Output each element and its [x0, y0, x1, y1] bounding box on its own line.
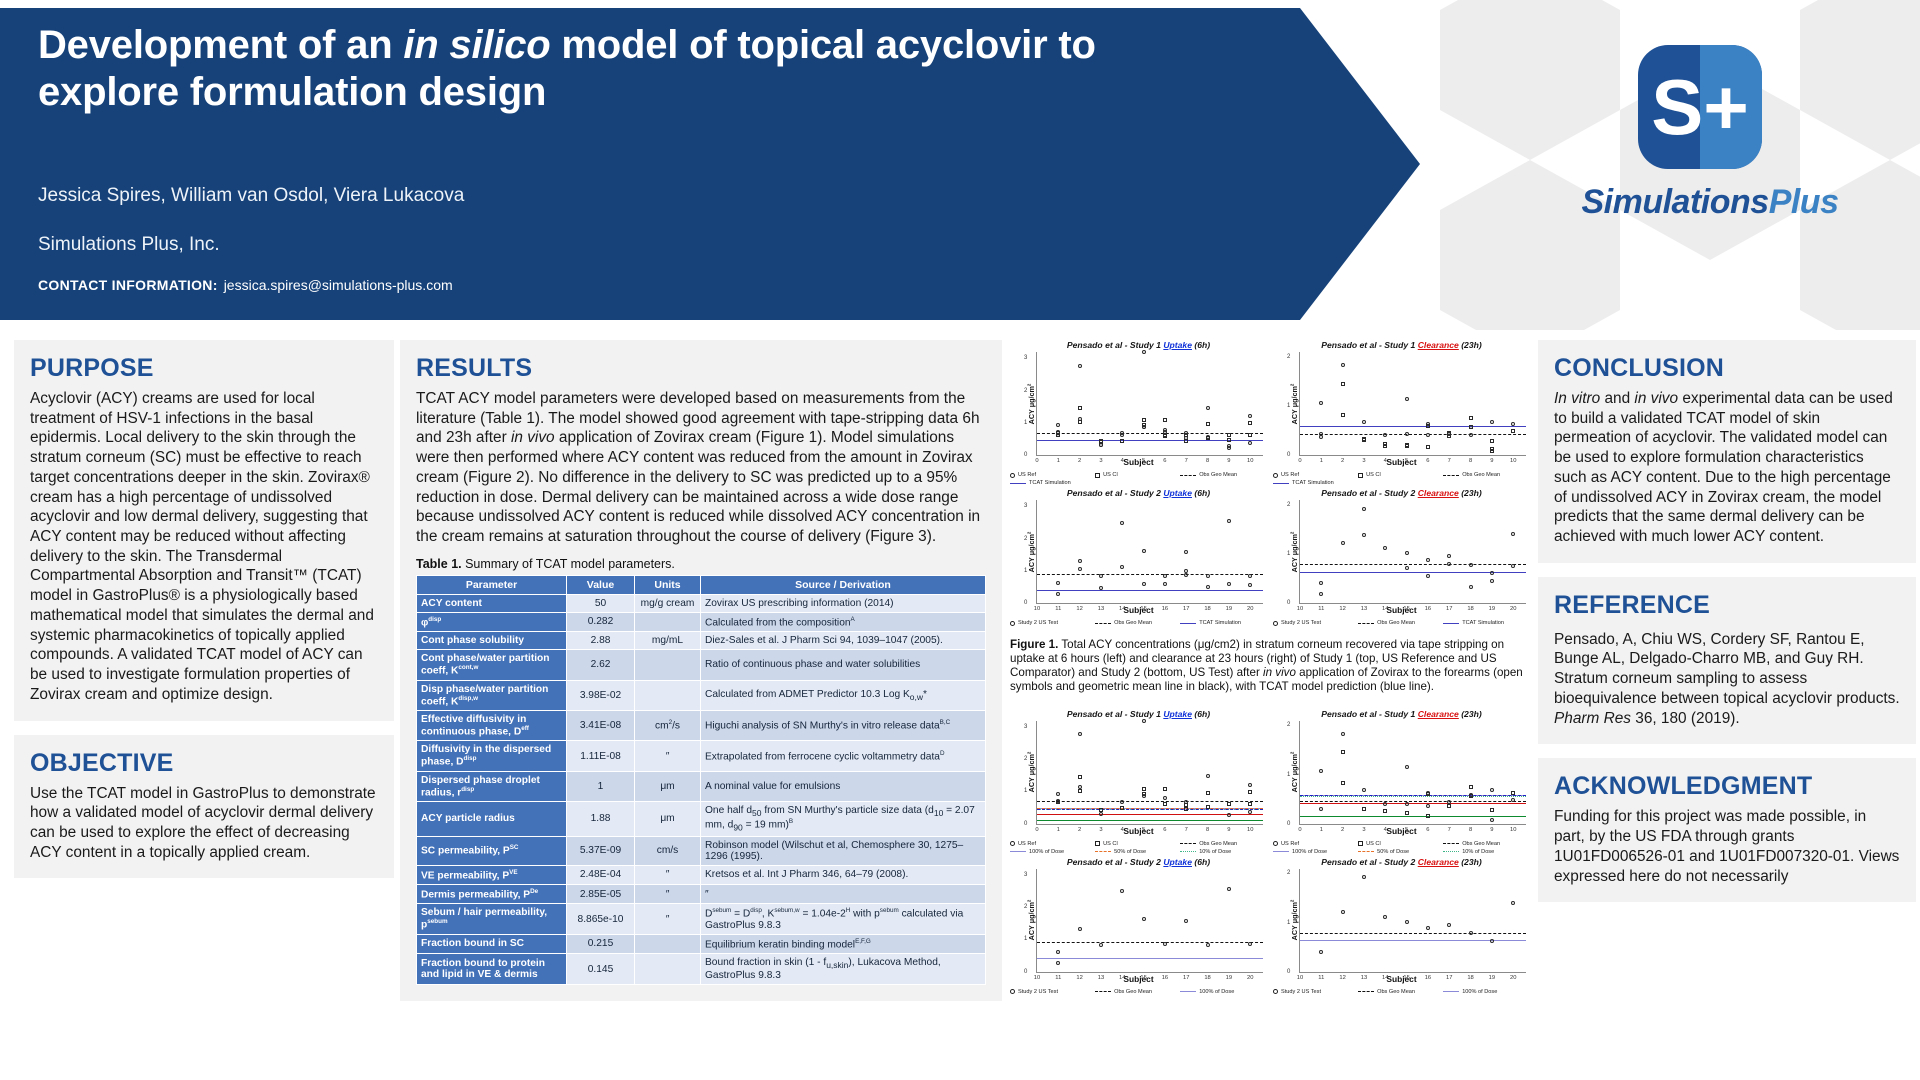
chart-title-keyword: Clearance [1418, 709, 1459, 719]
table-cell-value: 2.62 [567, 650, 635, 680]
data-point [1490, 449, 1494, 453]
table-cell-source: Kretsos et al. Int J Pharm 346, 64–79 (2… [701, 865, 986, 884]
data-point [1056, 581, 1060, 585]
table-cell-value: 5.37E-09 [567, 836, 635, 865]
legend-label: US Cl [1366, 841, 1381, 847]
data-point [1341, 750, 1345, 754]
legend-label: Obs Geo Mean [1114, 620, 1152, 626]
x-axis-tick: 8 [1206, 827, 1209, 833]
x-axis-tick: 19 [1226, 975, 1232, 981]
y-axis-tick: 1 [1024, 788, 1027, 794]
chart-legend: US RefUS ClObs Geo MeanTCAT Simulation [1273, 472, 1530, 486]
x-axis-tick: 9 [1490, 827, 1493, 833]
y-axis-tick: 1 [1287, 772, 1290, 778]
legend-line-icon [1010, 483, 1026, 484]
data-point [1426, 574, 1430, 578]
chart-title: Pensado et al - Study 1 Clearance (23h) [1273, 709, 1530, 719]
table-cell-units: mg/mL [635, 632, 701, 650]
table-cell-source: A nominal value for emulsions [701, 771, 986, 801]
x-axis-tick: 12 [1076, 606, 1082, 612]
data-point [1099, 812, 1103, 816]
x-axis-tick: 20 [1247, 975, 1253, 981]
legend-item: US Ref [1010, 472, 1087, 478]
data-point [1490, 579, 1494, 583]
table-cell-value: 1.88 [567, 802, 635, 836]
reference-heading: REFERENCE [1554, 591, 1900, 620]
legend-marker-icon [1358, 473, 1363, 478]
data-point [1248, 810, 1252, 814]
chart-fig2-study2-clearance: Pensado et al - Study 2 Clearance (23h)A… [1273, 857, 1530, 999]
data-point [1426, 926, 1430, 930]
x-axis-tick: 1 [1320, 827, 1323, 833]
column-results: RESULTS TCAT ACY model parameters were d… [400, 340, 1002, 1015]
table-cell-parameter: Disp phase/water partition coeff, Kdisp,… [417, 680, 567, 710]
table-column-header: Value [567, 575, 635, 594]
legend-label: 50% of Dose [1114, 849, 1146, 855]
x-axis-tick: 7 [1185, 827, 1188, 833]
y-axis-tick: 0 [1287, 821, 1290, 827]
data-point [1490, 818, 1494, 822]
chart-title-keyword: Uptake [1163, 709, 1192, 719]
data-point [1184, 439, 1188, 443]
table-cell-value: 8.865e-10 [567, 904, 635, 934]
legend-marker-icon [1273, 473, 1278, 478]
x-axis-tick: 16 [1162, 606, 1168, 612]
table-cell-source: ″ [701, 884, 986, 903]
chart-title-keyword: Clearance [1418, 857, 1459, 867]
x-axis-tick: 5 [1405, 458, 1408, 464]
x-axis-tick: 18 [1204, 975, 1210, 981]
chart-legend: US RefUS ClObs Geo MeanTCAT Simulation [1010, 472, 1267, 486]
y-axis-tick: 1 [1287, 403, 1290, 409]
legend-label: 100% of Dose [1462, 989, 1497, 995]
table-cell-parameter: ACY particle radius [417, 802, 567, 836]
legend-marker-icon [1358, 841, 1363, 846]
legend-item: US Cl [1095, 841, 1172, 847]
tcat-parameters-table: ParameterValueUnitsSource / Derivation A… [416, 575, 986, 985]
legend-line-icon [1273, 483, 1289, 484]
table-caption-label: Table 1. [416, 557, 462, 571]
table-cell-parameter: Fraction bound in SC [417, 934, 567, 953]
legend-label: Obs Geo Mean [1377, 989, 1415, 995]
data-point [1319, 581, 1323, 585]
table-cell-source: Ratio of continuous phase and water solu… [701, 650, 986, 680]
x-axis-tick: 18 [1467, 975, 1473, 981]
data-point [1248, 942, 1252, 946]
chart-fig2-study1-clearance: Pensado et al - Study 1 Clearance (23h)A… [1273, 709, 1530, 851]
table-row: Disp phase/water partition coeff, Kdisp,… [417, 680, 986, 710]
data-point [1490, 788, 1494, 792]
x-axis-tick: 15 [1403, 975, 1409, 981]
legend-item: 100% of Dose [1443, 989, 1520, 995]
logo-wordmark: SimulationsPlus [1560, 183, 1860, 222]
conclusion-body: In vitro and in vivo experimental data c… [1554, 389, 1900, 547]
data-point [1341, 541, 1345, 545]
data-point [1383, 546, 1387, 550]
legend-line-icon [1180, 475, 1196, 476]
column-left: PURPOSE Acyclovir (ACY) creams are used … [14, 340, 394, 892]
table-row: SC permeability, PSC5.37E-09cm/sRobinson… [417, 836, 986, 865]
x-axis-tick: 5 [1405, 827, 1408, 833]
data-point [1142, 719, 1146, 723]
table-row: φdisp0.282Calculated from the compositio… [417, 612, 986, 631]
legend-label: TCAT Simulation [1199, 620, 1241, 626]
data-point [1163, 574, 1167, 578]
legend-label: Obs Geo Mean [1377, 620, 1415, 626]
data-point [1490, 439, 1494, 443]
y-axis-tick: 0 [1024, 452, 1027, 458]
logo-word-simulations: Simulations [1581, 183, 1768, 221]
figure-1-caption: Figure 1. Total ACY concentrations (μg/c… [1010, 638, 1530, 695]
data-point [1511, 901, 1515, 905]
x-axis-tick: 9 [1227, 458, 1230, 464]
table-cell-source: Robinson model (Wilschut et al, Chemosph… [701, 836, 986, 865]
x-axis-tick: 15 [1403, 606, 1409, 612]
results-body: TCAT ACY model parameters were developed… [416, 389, 986, 547]
x-axis-tick: 4 [1121, 458, 1124, 464]
data-point [1319, 807, 1323, 811]
data-point [1447, 923, 1451, 927]
legend-label: Study 2 US Test [1018, 620, 1058, 626]
x-axis-tick: 12 [1339, 975, 1345, 981]
data-point [1469, 433, 1473, 437]
reference-body: Pensado, A, Chiu WS, Cordery SF, Rantou … [1554, 630, 1900, 729]
data-point [1206, 774, 1210, 778]
data-point [1120, 433, 1124, 437]
legend-marker-icon [1273, 621, 1278, 626]
data-point [1319, 769, 1323, 773]
y-axis-tick: 2 [1024, 388, 1027, 394]
page-title: Development of an in silico model of top… [38, 22, 1178, 116]
x-axis-tick: 0 [1035, 827, 1038, 833]
table-cell-source: Diez-Sales et al. J Pharm Sci 94, 1039–1… [701, 632, 986, 650]
legend-line-icon [1358, 991, 1374, 992]
reference-line [1300, 434, 1526, 435]
figure-2-block: Pensado et al - Study 1 Uptake (6h)ACY μ… [1010, 709, 1530, 999]
figure-1-block: Pensado et al - Study 1 Uptake (6h)ACY μ… [1010, 340, 1530, 695]
data-point [1078, 775, 1082, 779]
table-cell-value: 0.215 [567, 934, 635, 953]
data-point [1447, 800, 1451, 804]
data-point [1099, 808, 1103, 812]
legend-item: Obs Geo Mean [1443, 841, 1520, 847]
x-axis-tick: 4 [1384, 458, 1387, 464]
table-cell-parameter: SC permeability, PSC [417, 836, 567, 865]
y-axis-tick: 0 [1287, 969, 1290, 975]
y-axis-tick: 2 [1024, 904, 1027, 910]
table-cell-units: μm [635, 802, 701, 836]
data-point [1362, 875, 1366, 879]
chart-plot-area: ACY μg/cm2012012345678910 [1299, 352, 1526, 456]
legend-marker-icon [1273, 989, 1278, 994]
x-axis-tick: 7 [1448, 458, 1451, 464]
chart-title-suffix: (6h) [1192, 857, 1210, 867]
data-point [1078, 406, 1082, 410]
data-point [1056, 800, 1060, 804]
chart-title-prefix: Pensado et al - Study 1 [1067, 340, 1163, 350]
figure-1-chart-grid: Pensado et al - Study 1 Uptake (6h)ACY μ… [1010, 340, 1530, 630]
data-point [1206, 585, 1210, 589]
chart-legend: Study 2 US TestObs Geo Mean100% of Dose [1273, 989, 1530, 995]
data-point [1248, 414, 1252, 418]
x-axis-tick: 4 [1121, 827, 1124, 833]
chart-title-prefix: Pensado et al - Study 1 [1321, 340, 1417, 350]
legend-label: US Ref [1018, 841, 1036, 847]
x-axis-tick: 16 [1162, 975, 1168, 981]
x-axis-tick: 7 [1448, 827, 1451, 833]
table-row: VE permeability, PVE2.48E-04″Kretsos et … [417, 865, 986, 884]
data-point [1227, 813, 1231, 817]
legend-label: Obs Geo Mean [1114, 989, 1152, 995]
legend-line-icon [1180, 851, 1196, 852]
chart-title-keyword: Uptake [1163, 488, 1192, 498]
y-axis-tick: 0 [1287, 600, 1290, 606]
x-axis-tick: 17 [1446, 606, 1452, 612]
data-point [1227, 802, 1231, 806]
data-point [1362, 438, 1366, 442]
legend-line-icon [1095, 623, 1111, 624]
data-point [1184, 550, 1188, 554]
chart-title-suffix: (23h) [1459, 488, 1482, 498]
chart-fig1-study1-uptake: Pensado et al - Study 1 Uptake (6h)ACY μ… [1010, 340, 1267, 482]
data-point [1383, 915, 1387, 919]
x-axis-tick: 17 [1183, 606, 1189, 612]
x-axis-tick: 16 [1425, 975, 1431, 981]
figure-1-caption-label: Figure 1. [1010, 638, 1058, 651]
y-axis-tick: 2 [1287, 722, 1290, 728]
reference-line [1037, 942, 1263, 943]
table-cell-value: 3.98E-02 [567, 680, 635, 710]
affiliation: Simulations Plus, Inc. [38, 234, 1138, 256]
chart-plot-area: ACY μg/cm20121011121314151617181920 [1299, 869, 1526, 973]
conclusion-heading: CONCLUSION [1554, 354, 1900, 383]
data-point [1405, 551, 1409, 555]
legend-label: 10% of Dose [1199, 849, 1231, 855]
y-axis-tick: 2 [1287, 502, 1290, 508]
table-cell-units: cm/s [635, 836, 701, 865]
chart-title-keyword: Uptake [1163, 340, 1192, 350]
chart-title-prefix: Pensado et al - Study 2 [1321, 857, 1417, 867]
chart-legend: Study 2 US TestObs Geo MeanTCAT Simulati… [1273, 620, 1530, 626]
y-axis-tick: 3 [1024, 503, 1027, 509]
x-axis-tick: 10 [1510, 458, 1516, 464]
data-point [1362, 507, 1366, 511]
table-cell-source: Calculated from the compositionA [701, 612, 986, 631]
legend-line-icon [1443, 475, 1459, 476]
legend-line-icon [1443, 623, 1459, 624]
x-axis-tick: 15 [1140, 975, 1146, 981]
x-axis-tick: 12 [1339, 606, 1345, 612]
legend-item: Obs Geo Mean [1358, 989, 1435, 995]
y-axis-label: ACY μg/cm2 [1027, 900, 1036, 941]
table-cell-value: 3.41E-08 [567, 710, 635, 740]
x-axis-tick: 20 [1247, 606, 1253, 612]
reference-line [1300, 426, 1526, 427]
chart-title-prefix: Pensado et al - Study 2 [1067, 488, 1163, 498]
chart-title: Pensado et al - Study 2 Clearance (23h) [1273, 857, 1530, 867]
panel-acknowledgment: ACKNOWLEDGMENT Funding for this project … [1538, 758, 1916, 902]
chart-title-suffix: (6h) [1192, 340, 1210, 350]
table-cell-parameter: Cont phase/water partition coeff, Kcont,… [417, 650, 567, 680]
x-axis-tick: 17 [1183, 975, 1189, 981]
legend-item: 100% of Dose [1180, 989, 1257, 995]
data-point [1469, 785, 1473, 789]
panel-conclusion: CONCLUSION In vitro and in vivo experime… [1538, 340, 1916, 563]
data-point [1490, 939, 1494, 943]
x-axis-tick: 15 [1140, 606, 1146, 612]
data-point [1163, 787, 1167, 791]
x-axis-tick: 1 [1057, 458, 1060, 464]
data-point [1099, 943, 1103, 947]
data-point [1490, 571, 1494, 575]
table-cell-value: 0.282 [567, 612, 635, 631]
figure-2-chart-grid: Pensado et al - Study 1 Uptake (6h)ACY μ… [1010, 709, 1530, 999]
title-text-1: Development of an [38, 23, 403, 67]
x-axis-tick: 10 [1510, 827, 1516, 833]
x-axis-tick: 13 [1098, 975, 1104, 981]
table-cell-source: Extrapolated from ferrocene cyclic volta… [701, 741, 986, 771]
table-cell-parameter: ACY content [417, 594, 567, 612]
table-cell-units [635, 612, 701, 631]
figure-1-caption-text: Total ACY concentrations (μg/cm2) in str… [1010, 638, 1523, 693]
data-point [1120, 565, 1124, 569]
legend-item: Obs Geo Mean [1180, 841, 1257, 847]
table-cell-parameter: Fraction bound to protein and lipid in V… [417, 954, 567, 985]
table-cell-parameter: Dispersed phase droplet radius, rdisp [417, 771, 567, 801]
data-point [1248, 802, 1252, 806]
x-axis-tick: 8 [1206, 458, 1209, 464]
x-axis-tick: 9 [1490, 458, 1493, 464]
x-axis-tick: 3 [1362, 458, 1365, 464]
chart-title-prefix: Pensado et al - Study 1 [1067, 709, 1163, 719]
reference-line [1300, 795, 1526, 796]
chart-title-prefix: Pensado et al - Study 2 [1321, 488, 1417, 498]
y-axis-label: ACY μg/cm2 [1290, 531, 1299, 572]
legend-label: 10% of Dose [1462, 849, 1494, 855]
chart-plot-area: ACY μg/cm201231011121314151617181920 [1036, 500, 1263, 604]
data-point [1469, 585, 1473, 589]
data-point [1426, 445, 1430, 449]
table-cell-parameter: Diffusivity in the dispersed phase, Ddis… [417, 741, 567, 771]
legend-item: 100% of Dose [1010, 849, 1087, 855]
data-point [1405, 566, 1409, 570]
data-point [1248, 783, 1252, 787]
y-axis-label: ACY μg/cm2 [1290, 383, 1299, 424]
x-axis-tick: 20 [1510, 606, 1516, 612]
data-point [1319, 401, 1323, 405]
s-plus-icon: S+ [1638, 45, 1762, 169]
data-point [1078, 364, 1082, 368]
table-cell-units [635, 680, 701, 710]
contact-email[interactable]: jessica.spires@simulations-plus.com [218, 277, 453, 293]
data-point [1206, 406, 1210, 410]
chart-title: Pensado et al - Study 2 Clearance (23h) [1273, 488, 1530, 498]
chart-plot-area: ACY μg/cm2012012345678910 [1299, 721, 1526, 825]
data-point [1405, 432, 1409, 436]
legend-marker-icon [1095, 473, 1100, 478]
x-axis-tick: 12 [1076, 975, 1082, 981]
table-cell-value: 2.88 [567, 632, 635, 650]
data-point [1248, 433, 1252, 437]
x-axis-tick: 10 [1034, 606, 1040, 612]
chart-plot-area: ACY μg/cm201231011121314151617181920 [1036, 869, 1263, 973]
table-cell-units [635, 934, 701, 953]
legend-label: Obs Geo Mean [1199, 841, 1237, 847]
table-row: ACY particle radius1.88μmOne half d50 fr… [417, 802, 986, 836]
legend-label: US Cl [1103, 472, 1118, 478]
y-axis-tick: 2 [1287, 354, 1290, 360]
data-point [1184, 807, 1188, 811]
x-axis-tick: 0 [1035, 458, 1038, 464]
data-point [1405, 802, 1409, 806]
data-point [1163, 418, 1167, 422]
data-point [1383, 809, 1387, 813]
data-point [1469, 794, 1473, 798]
table-cell-units: ″ [635, 904, 701, 934]
data-point [1142, 350, 1146, 354]
y-axis-label: ACY μg/cm2 [1290, 900, 1299, 941]
legend-line-icon [1443, 851, 1459, 852]
x-axis-tick: 14 [1119, 975, 1125, 981]
legend-line-icon [1095, 991, 1111, 992]
data-point [1511, 422, 1515, 426]
table-cell-value: 2.48E-04 [567, 865, 635, 884]
data-point [1206, 422, 1210, 426]
y-axis-tick: 0 [1024, 821, 1027, 827]
table-column-header: Parameter [417, 575, 567, 594]
reference-line [1300, 803, 1526, 804]
x-axis-tick: 2 [1078, 458, 1081, 464]
legend-item: US Ref [1273, 841, 1350, 847]
legend-label: TCAT Simulation [1462, 620, 1504, 626]
data-point [1383, 444, 1387, 448]
table-cell-units: μm [635, 771, 701, 801]
x-axis-tick: 6 [1426, 827, 1429, 833]
legend-marker-icon [1010, 989, 1015, 994]
legend-item: Obs Geo Mean [1358, 620, 1435, 626]
y-axis-tick: 1 [1287, 920, 1290, 926]
x-axis-tick: 14 [1382, 606, 1388, 612]
data-point [1511, 798, 1515, 802]
y-axis-tick: 1 [1287, 551, 1290, 557]
x-axis-tick: 2 [1341, 458, 1344, 464]
data-point [1426, 804, 1430, 808]
chart-fig1-study2-clearance: Pensado et al - Study 2 Clearance (23h)A… [1273, 488, 1530, 630]
x-axis-tick: 13 [1098, 606, 1104, 612]
table-row: Effective diffusivity in continuous phas… [417, 710, 986, 740]
data-point [1426, 814, 1430, 818]
x-axis-tick: 11 [1055, 975, 1061, 981]
data-point [1426, 558, 1430, 562]
contact-information: CONTACT INFORMATION:jessica.spires@simul… [38, 277, 1138, 293]
data-point [1341, 363, 1345, 367]
column-right: CONCLUSION In vitro and in vivo experime… [1538, 340, 1916, 916]
x-axis-tick: 3 [1362, 827, 1365, 833]
data-point [1511, 532, 1515, 536]
data-point [1405, 397, 1409, 401]
chart-title-keyword: Clearance [1418, 340, 1459, 350]
x-axis-tick: 10 [1297, 975, 1303, 981]
contact-label: CONTACT INFORMATION: [38, 277, 218, 293]
data-point [1142, 423, 1146, 427]
legend-item: 50% of Dose [1358, 849, 1435, 855]
data-point [1511, 429, 1515, 433]
chart-fig1-study2-uptake: Pensado et al - Study 2 Uptake (6h)ACY μ… [1010, 488, 1267, 630]
data-point [1341, 382, 1345, 386]
logo-word-plus: Plus [1769, 183, 1839, 221]
reference-line [1037, 574, 1263, 575]
legend-label: Obs Geo Mean [1199, 472, 1237, 478]
